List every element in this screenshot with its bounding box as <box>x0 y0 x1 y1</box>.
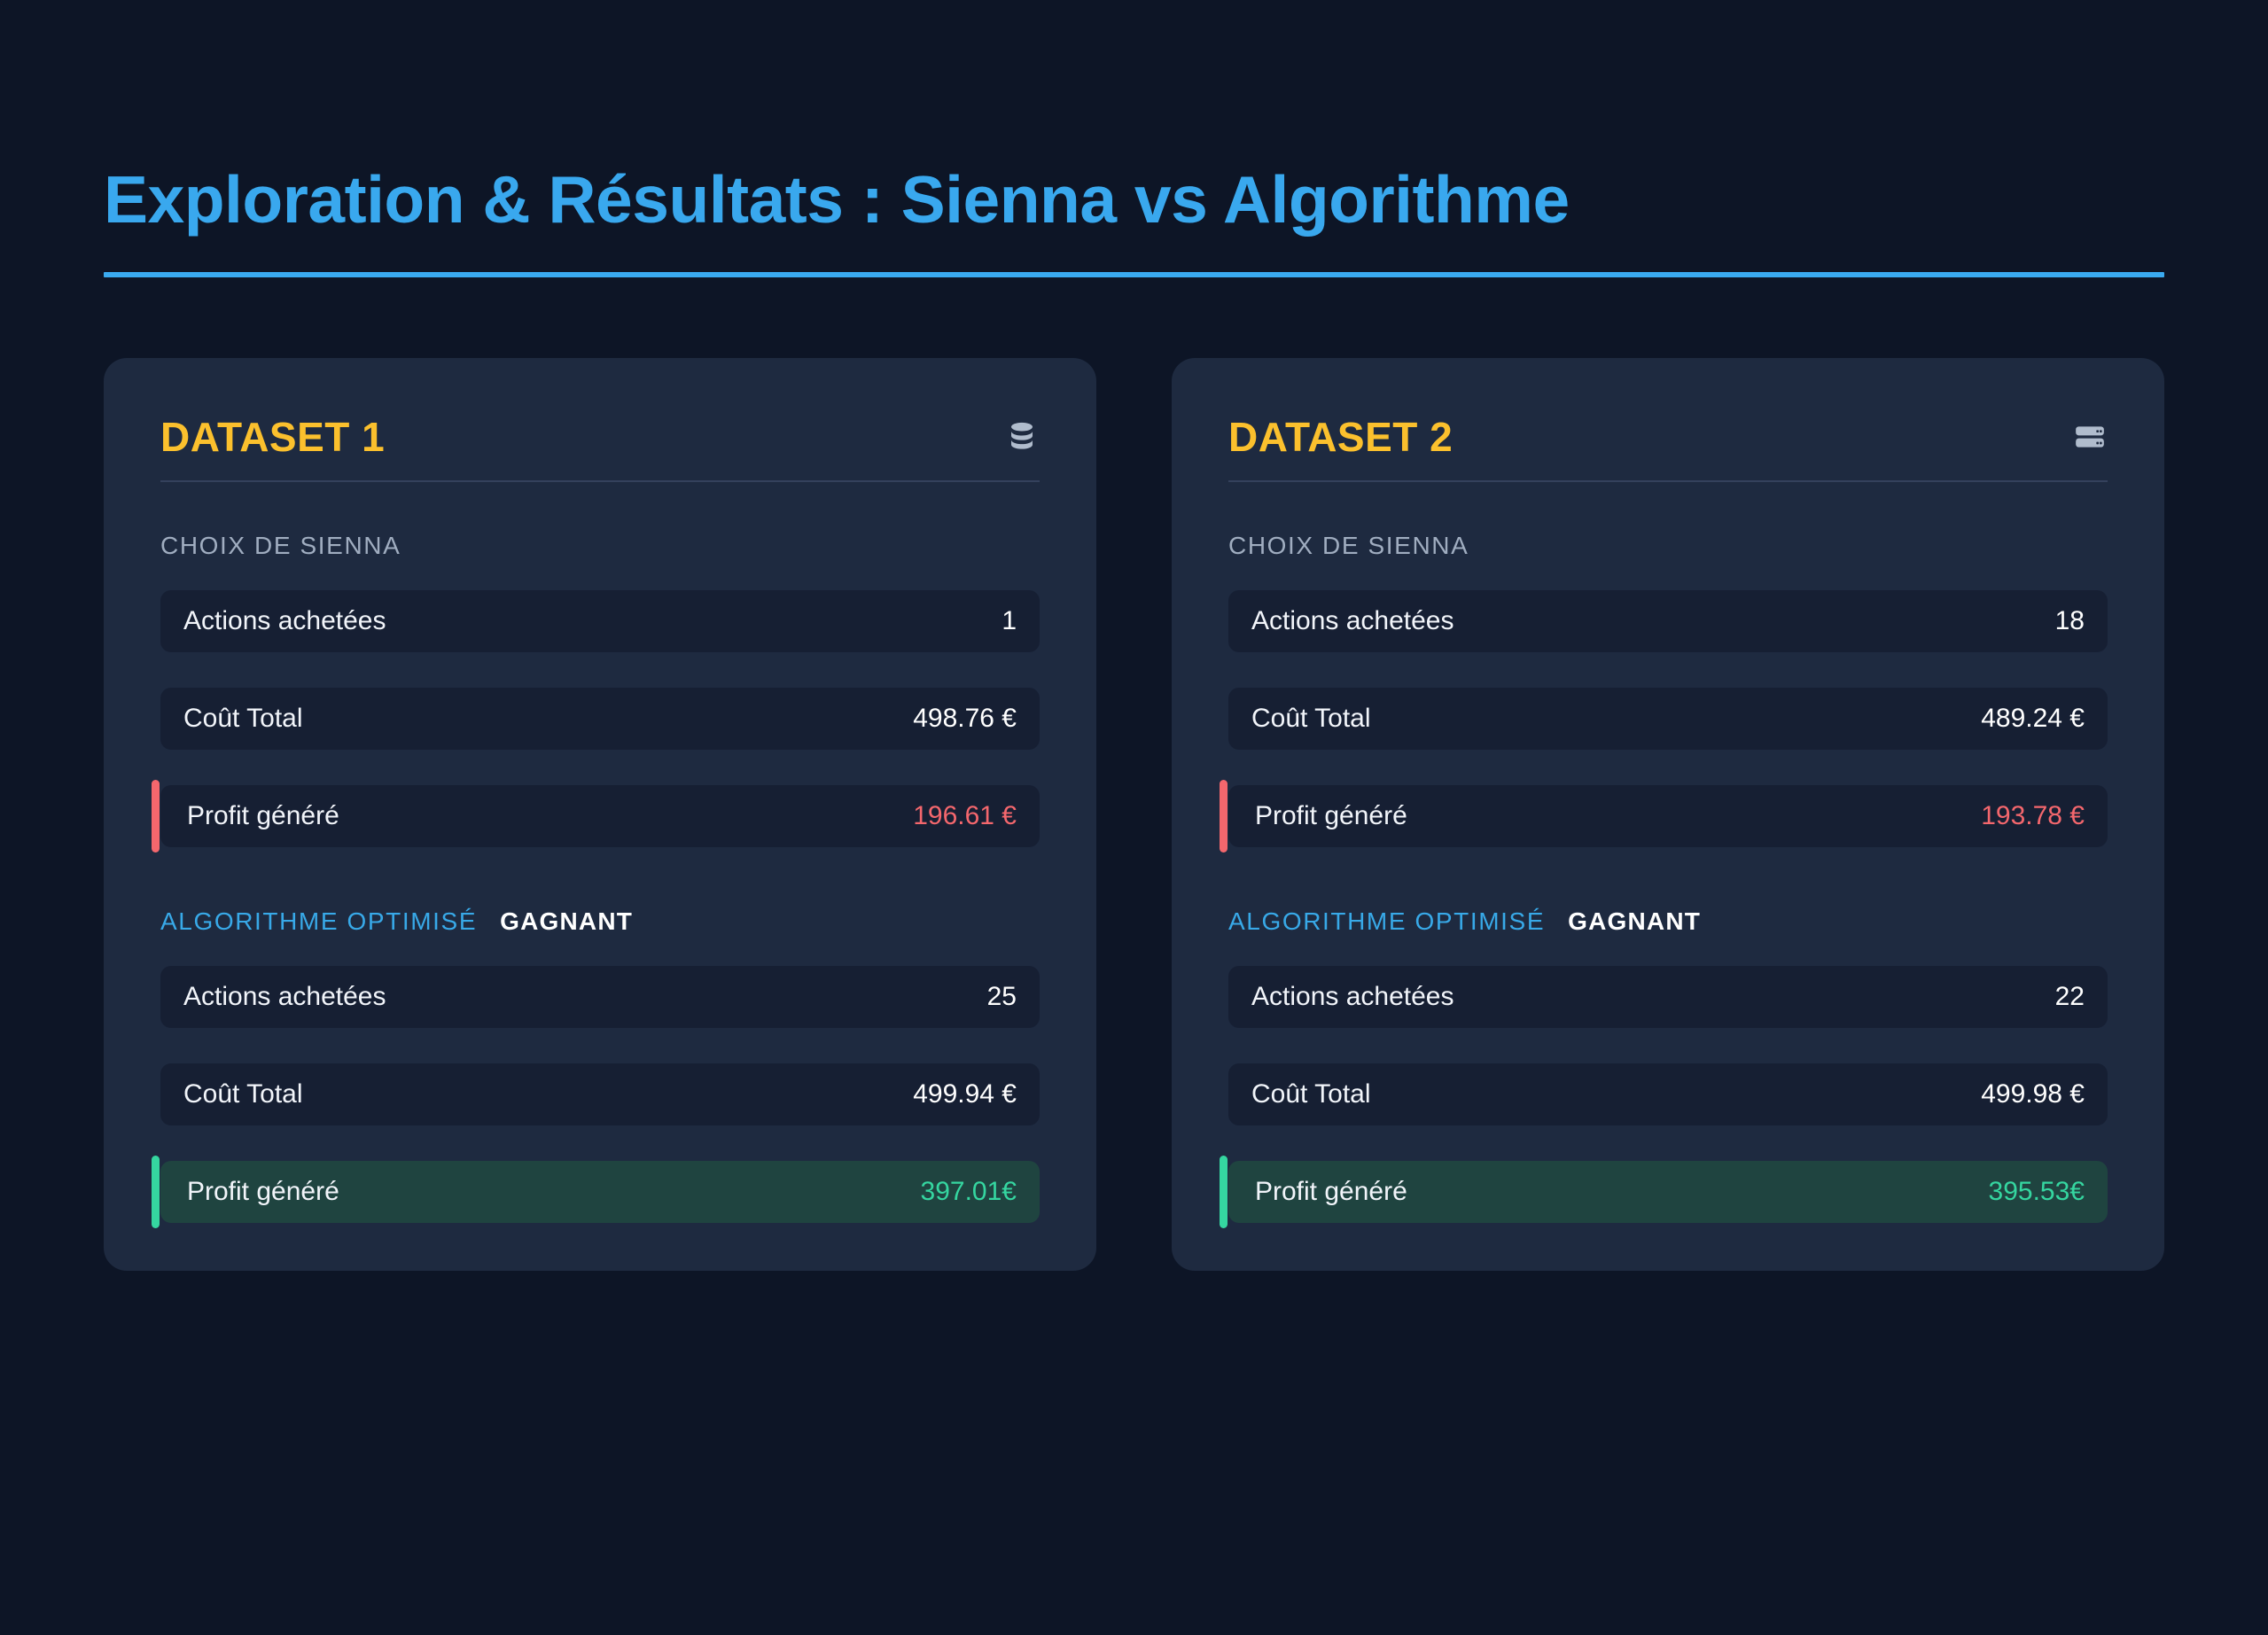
title-underline-rule <box>104 272 2164 277</box>
card-header: DATASET 2 <box>1228 417 2108 482</box>
metric-label: Coût Total <box>1251 705 1371 732</box>
sienna-metric-rows: Actions achetées 18 Coût Total 489.24 € … <box>1228 590 2108 847</box>
sienna-section-label: CHOIX DE SIENNA <box>1228 533 1469 558</box>
metric-label: Actions achetées <box>1251 984 1454 1010</box>
metric-row-shares[interactable]: Actions achetées 18 <box>1228 590 2108 652</box>
metric-label: Profit généré <box>187 803 339 829</box>
algorithm-section-label: ALGORITHME OPTIMISÉ <box>1228 909 1545 934</box>
page-title: Exploration & Résultats : Sienna vs Algo… <box>104 165 2164 235</box>
metric-value: 1 <box>1002 608 1017 635</box>
metric-value: 193.78 € <box>1981 803 2085 829</box>
metric-row-cost[interactable]: Coût Total 498.76 € <box>160 688 1040 750</box>
metric-label: Coût Total <box>1251 1081 1371 1108</box>
metric-row-profit[interactable]: Profit généré 193.78 € <box>1228 785 2108 847</box>
algorithm-section-header: ALGORITHME OPTIMISÉ GAGNANT <box>1228 909 2108 939</box>
metric-label: Coût Total <box>183 1081 303 1108</box>
database-icon <box>1004 419 1040 455</box>
status-badge: GAGNANT <box>1568 909 1701 934</box>
card-title: DATASET 1 <box>160 417 385 457</box>
metric-value: 395.53€ <box>1989 1179 2085 1205</box>
metric-row-cost[interactable]: Coût Total 499.98 € <box>1228 1063 2108 1125</box>
server-icon <box>2072 419 2108 455</box>
metric-label: Profit généré <box>187 1179 339 1205</box>
metric-value: 25 <box>987 984 1017 1010</box>
metric-value: 22 <box>2055 984 2085 1010</box>
algorithm-section-header: ALGORITHME OPTIMISÉ GAGNANT <box>160 909 1040 939</box>
metric-label: Actions achetées <box>183 608 386 635</box>
dataset-cards-container: DATASET 1 CHOIX DE SIENNA Actions acheté… <box>104 358 2164 1271</box>
metric-label: Profit généré <box>1255 803 1407 829</box>
metric-value: 499.94 € <box>913 1081 1017 1108</box>
sienna-section: CHOIX DE SIENNA Actions achetées 1 Coût … <box>160 533 1040 847</box>
sienna-section-label: CHOIX DE SIENNA <box>160 533 401 558</box>
metric-row-cost[interactable]: Coût Total 489.24 € <box>1228 688 2108 750</box>
status-badge: GAGNANT <box>500 909 633 934</box>
metric-value: 196.61 € <box>913 803 1017 829</box>
slide-root: Exploration & Résultats : Sienna vs Algo… <box>0 0 2268 1635</box>
metric-row-cost[interactable]: Coût Total 499.94 € <box>160 1063 1040 1125</box>
algorithm-section: ALGORITHME OPTIMISÉ GAGNANT Actions ache… <box>1228 909 2108 1223</box>
sienna-section-header: CHOIX DE SIENNA <box>1228 533 2108 564</box>
card-title: DATASET 2 <box>1228 417 1453 457</box>
card-header: DATASET 1 <box>160 417 1040 482</box>
algorithm-section-label: ALGORITHME OPTIMISÉ <box>160 909 477 934</box>
dataset-card: DATASET 1 CHOIX DE SIENNA Actions acheté… <box>104 358 1096 1271</box>
metric-label: Coût Total <box>183 705 303 732</box>
metric-label: Profit généré <box>1255 1179 1407 1205</box>
sienna-section: CHOIX DE SIENNA Actions achetées 18 Coût… <box>1228 533 2108 847</box>
sienna-metric-rows: Actions achetées 1 Coût Total 498.76 € P… <box>160 590 1040 847</box>
metric-row-shares[interactable]: Actions achetées 1 <box>160 590 1040 652</box>
metric-row-profit[interactable]: Profit généré 397.01€ <box>160 1161 1040 1223</box>
metric-value: 18 <box>2055 608 2085 635</box>
dataset-card: DATASET 2 CHOIX DE SIENNA <box>1172 358 2164 1271</box>
algorithm-section: ALGORITHME OPTIMISÉ GAGNANT Actions ache… <box>160 909 1040 1223</box>
metric-row-profit[interactable]: Profit généré 196.61 € <box>160 785 1040 847</box>
page-header: Exploration & Résultats : Sienna vs Algo… <box>104 165 2164 277</box>
metric-label: Actions achetées <box>1251 608 1454 635</box>
metric-label: Actions achetées <box>183 984 386 1010</box>
algorithm-metric-rows: Actions achetées 25 Coût Total 499.94 € … <box>160 966 1040 1223</box>
metric-value: 489.24 € <box>1981 705 2085 732</box>
metric-row-shares[interactable]: Actions achetées 25 <box>160 966 1040 1028</box>
algorithm-metric-rows: Actions achetées 22 Coût Total 499.98 € … <box>1228 966 2108 1223</box>
metric-value: 397.01€ <box>921 1179 1017 1205</box>
metric-row-shares[interactable]: Actions achetées 22 <box>1228 966 2108 1028</box>
metric-value: 498.76 € <box>913 705 1017 732</box>
metric-row-profit[interactable]: Profit généré 395.53€ <box>1228 1161 2108 1223</box>
metric-value: 499.98 € <box>1981 1081 2085 1108</box>
sienna-section-header: CHOIX DE SIENNA <box>160 533 1040 564</box>
